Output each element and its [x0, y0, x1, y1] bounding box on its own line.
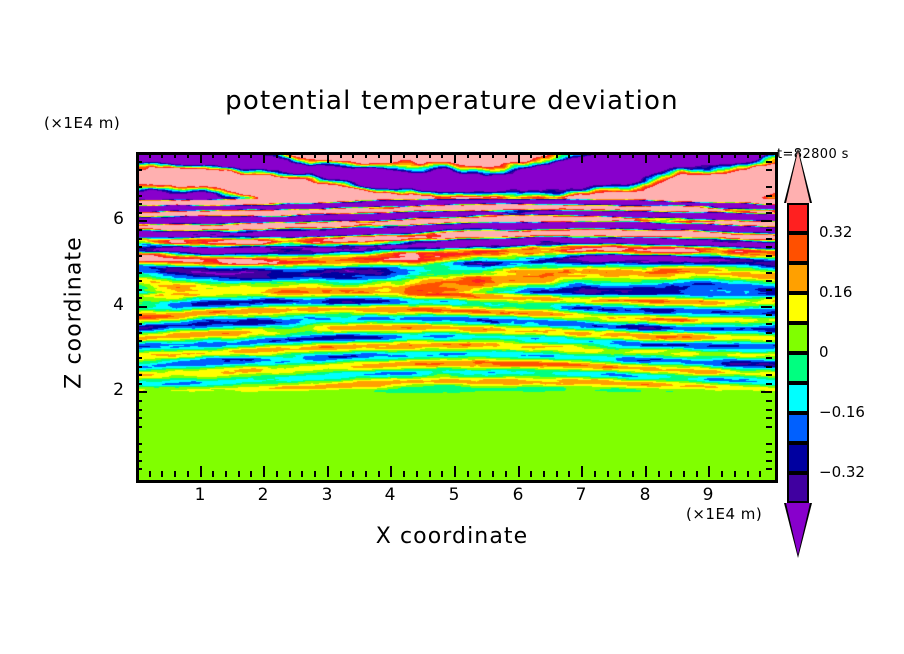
- x-minor-tick: [594, 471, 596, 477]
- colorbar-band-violet: [787, 473, 809, 503]
- y-minor-tick-right: [766, 332, 772, 334]
- y-minor-tick: [136, 426, 142, 428]
- y-minor-tick-right: [766, 297, 772, 299]
- x-minor-tick: [607, 471, 609, 477]
- y-minor-tick-right: [766, 246, 772, 248]
- y-tick-label: 6: [84, 209, 124, 229]
- y-minor-tick-right: [766, 186, 772, 188]
- x-major-tick: [390, 466, 392, 477]
- x-major-tick-top: [645, 152, 647, 163]
- heatmap-canvas: [139, 155, 775, 480]
- x-axis-unit-label: (×1E4 m): [686, 505, 762, 523]
- y-minor-tick-right: [766, 468, 772, 470]
- x-tick-label: 2: [243, 485, 283, 505]
- y-minor-tick-right: [766, 443, 772, 445]
- x-major-tick-top: [327, 152, 329, 163]
- x-minor-tick: [683, 471, 685, 477]
- x-minor-tick-top: [365, 152, 367, 158]
- x-minor-tick: [149, 471, 151, 477]
- y-minor-tick-right: [766, 409, 772, 411]
- x-minor-tick-top: [632, 152, 634, 158]
- colorbar-band-cyan: [787, 383, 809, 413]
- x-minor-tick-top: [734, 152, 736, 158]
- x-major-tick: [708, 466, 710, 477]
- x-major-tick: [518, 466, 520, 477]
- x-minor-tick-top: [619, 152, 621, 158]
- x-minor-tick: [441, 471, 443, 477]
- y-minor-tick: [136, 460, 142, 462]
- page-title: potential temperature deviation: [0, 86, 904, 116]
- x-minor-tick: [734, 471, 736, 477]
- y-minor-tick-right: [766, 323, 772, 325]
- colorbar-band-orange-red: [787, 233, 809, 263]
- y-axis-title: Z coordinate: [62, 223, 87, 403]
- x-minor-tick-top: [683, 152, 685, 158]
- x-major-tick: [200, 466, 202, 477]
- y-minor-tick: [136, 203, 142, 205]
- y-minor-tick-right: [766, 229, 772, 231]
- x-axis-title: X coordinate: [0, 524, 904, 549]
- colorbar-tick-label: −0.16: [819, 403, 865, 421]
- x-minor-tick: [187, 471, 189, 477]
- colorbar-band-yellow: [787, 293, 809, 323]
- y-minor-tick: [136, 383, 142, 385]
- y-minor-tick-right: [766, 400, 772, 402]
- y-minor-tick: [136, 297, 142, 299]
- y-minor-tick-right: [766, 383, 772, 385]
- x-major-tick-top: [708, 152, 710, 163]
- x-minor-tick: [250, 471, 252, 477]
- x-minor-tick: [174, 471, 176, 477]
- y-minor-tick-right: [766, 195, 772, 197]
- y-minor-tick: [136, 229, 142, 231]
- y-minor-tick-right: [766, 161, 772, 163]
- x-major-tick-top: [263, 152, 265, 163]
- y-minor-tick: [136, 161, 142, 163]
- x-minor-tick: [378, 471, 380, 477]
- x-minor-tick: [416, 471, 418, 477]
- x-minor-tick-top: [530, 152, 532, 158]
- y-minor-tick: [136, 186, 142, 188]
- colorbar-band-orange: [787, 263, 809, 293]
- x-tick-label: 9: [688, 485, 728, 505]
- y-minor-tick-right: [766, 255, 772, 257]
- y-minor-tick: [136, 246, 142, 248]
- x-minor-tick-top: [441, 152, 443, 158]
- x-minor-tick-top: [759, 152, 761, 158]
- x-minor-tick: [505, 471, 507, 477]
- colorbar-band-chartreuse: [787, 323, 809, 353]
- x-major-tick: [645, 466, 647, 477]
- x-major-tick-top: [200, 152, 202, 163]
- x-major-tick: [263, 466, 265, 477]
- x-minor-tick-top: [212, 152, 214, 158]
- x-major-tick-top: [454, 152, 456, 163]
- x-minor-tick: [340, 471, 342, 477]
- x-minor-tick-top: [670, 152, 672, 158]
- y-minor-tick: [136, 400, 142, 402]
- y-tick-label: 2: [84, 380, 124, 400]
- x-minor-tick-top: [314, 152, 316, 158]
- x-tick-label: 1: [180, 485, 220, 505]
- y-tick-label: 4: [84, 295, 124, 315]
- x-minor-tick-top: [556, 152, 558, 158]
- x-minor-tick: [238, 471, 240, 477]
- x-minor-tick: [289, 471, 291, 477]
- x-minor-tick: [492, 471, 494, 477]
- colorbar: [787, 203, 809, 503]
- colorbar-tick-label: 0.32: [819, 223, 852, 241]
- x-minor-tick-top: [378, 152, 380, 158]
- x-minor-tick-top: [161, 152, 163, 158]
- y-minor-tick: [136, 357, 142, 359]
- y-minor-tick: [136, 366, 142, 368]
- x-major-tick: [327, 466, 329, 477]
- y-minor-tick-right: [766, 169, 772, 171]
- x-minor-tick-top: [174, 152, 176, 158]
- x-major-tick-top: [390, 152, 392, 163]
- y-minor-tick: [136, 374, 142, 376]
- y-minor-tick-right: [766, 357, 772, 359]
- y-minor-tick: [136, 314, 142, 316]
- y-minor-tick: [136, 289, 142, 291]
- y-major-tick: [136, 391, 147, 393]
- x-minor-tick: [225, 471, 227, 477]
- x-minor-tick: [479, 471, 481, 477]
- y-major-tick: [136, 220, 147, 222]
- y-minor-tick-right: [766, 289, 772, 291]
- y-minor-tick: [136, 238, 142, 240]
- y-minor-tick-right: [766, 451, 772, 453]
- x-minor-tick: [543, 471, 545, 477]
- x-minor-tick: [619, 471, 621, 477]
- x-minor-tick-top: [492, 152, 494, 158]
- y-major-tick-right: [761, 220, 772, 222]
- y-minor-tick-right: [766, 272, 772, 274]
- y-minor-tick-right: [766, 238, 772, 240]
- x-major-tick: [454, 466, 456, 477]
- y-minor-tick-right: [766, 460, 772, 462]
- y-major-tick-right: [761, 391, 772, 393]
- y-minor-tick: [136, 280, 142, 282]
- colorbar-tick-label: −0.32: [819, 463, 865, 481]
- x-minor-tick: [314, 471, 316, 477]
- y-minor-tick-right: [766, 280, 772, 282]
- y-minor-tick: [136, 443, 142, 445]
- x-tick-label: 4: [370, 485, 410, 505]
- x-minor-tick: [530, 471, 532, 477]
- x-minor-tick-top: [250, 152, 252, 158]
- y-minor-tick: [136, 169, 142, 171]
- x-minor-tick-top: [658, 152, 660, 158]
- x-minor-tick-top: [403, 152, 405, 158]
- y-minor-tick: [136, 340, 142, 342]
- x-minor-tick-top: [467, 152, 469, 158]
- y-minor-tick: [136, 272, 142, 274]
- x-minor-tick-top: [594, 152, 596, 158]
- x-minor-tick: [301, 471, 303, 477]
- x-minor-tick-top: [340, 152, 342, 158]
- y-minor-tick-right: [766, 417, 772, 419]
- y-minor-tick: [136, 323, 142, 325]
- plot-area: [136, 152, 778, 483]
- x-tick-label: 3: [307, 485, 347, 505]
- x-major-tick-top: [518, 152, 520, 163]
- y-minor-tick: [136, 451, 142, 453]
- x-minor-tick-top: [607, 152, 609, 158]
- colorbar-tick-label: 0.16: [819, 283, 852, 301]
- x-minor-tick-top: [721, 152, 723, 158]
- x-minor-tick: [670, 471, 672, 477]
- x-minor-tick-top: [479, 152, 481, 158]
- colorbar-tick-label: 0: [819, 343, 829, 361]
- x-minor-tick: [352, 471, 354, 477]
- x-minor-tick-top: [352, 152, 354, 158]
- x-minor-tick-top: [747, 152, 749, 158]
- colorbar-band-blue: [787, 413, 809, 443]
- y-minor-tick-right: [766, 314, 772, 316]
- y-major-tick: [136, 306, 147, 308]
- y-minor-tick: [136, 255, 142, 257]
- x-minor-tick: [568, 471, 570, 477]
- x-minor-tick-top: [696, 152, 698, 158]
- x-minor-tick-top: [543, 152, 545, 158]
- y-minor-tick: [136, 212, 142, 214]
- x-minor-tick-top: [225, 152, 227, 158]
- figure-root: potential temperature deviation (×1E4 m)…: [0, 0, 904, 654]
- y-minor-tick-right: [766, 366, 772, 368]
- x-major-tick-top: [581, 152, 583, 163]
- x-minor-tick-top: [238, 152, 240, 158]
- x-minor-tick: [467, 471, 469, 477]
- x-minor-tick-top: [568, 152, 570, 158]
- y-minor-tick: [136, 195, 142, 197]
- colorbar-band-spring-green: [787, 353, 809, 383]
- colorbar-band-navy: [787, 443, 809, 473]
- colorbar-band-red: [787, 203, 809, 233]
- timestamp-annotation: t=82800 s: [777, 147, 849, 162]
- x-minor-tick-top: [149, 152, 151, 158]
- x-minor-tick: [161, 471, 163, 477]
- x-minor-tick: [365, 471, 367, 477]
- y-minor-tick: [136, 409, 142, 411]
- x-minor-tick-top: [276, 152, 278, 158]
- x-minor-tick-top: [429, 152, 431, 158]
- x-tick-label: 7: [561, 485, 601, 505]
- y-minor-tick: [136, 332, 142, 334]
- x-minor-tick: [721, 471, 723, 477]
- y-major-tick-right: [761, 306, 772, 308]
- y-minor-tick-right: [766, 203, 772, 205]
- y-minor-tick-right: [766, 374, 772, 376]
- x-minor-tick: [759, 471, 761, 477]
- x-minor-tick: [632, 471, 634, 477]
- x-minor-tick: [696, 471, 698, 477]
- x-minor-tick: [658, 471, 660, 477]
- y-minor-tick: [136, 468, 142, 470]
- x-minor-tick: [276, 471, 278, 477]
- x-minor-tick-top: [416, 152, 418, 158]
- x-minor-tick: [212, 471, 214, 477]
- x-tick-label: 5: [434, 485, 474, 505]
- x-major-tick: [581, 466, 583, 477]
- x-minor-tick: [403, 471, 405, 477]
- y-minor-tick: [136, 417, 142, 419]
- y-minor-tick-right: [766, 212, 772, 214]
- x-minor-tick: [556, 471, 558, 477]
- y-minor-tick-right: [766, 426, 772, 428]
- x-minor-tick: [747, 471, 749, 477]
- x-minor-tick-top: [289, 152, 291, 158]
- x-minor-tick-top: [187, 152, 189, 158]
- x-minor-tick-top: [301, 152, 303, 158]
- y-axis-unit-label: (×1E4 m): [44, 114, 120, 132]
- y-minor-tick-right: [766, 340, 772, 342]
- x-tick-label: 8: [625, 485, 665, 505]
- x-tick-label: 6: [498, 485, 538, 505]
- x-minor-tick-top: [505, 152, 507, 158]
- x-minor-tick: [429, 471, 431, 477]
